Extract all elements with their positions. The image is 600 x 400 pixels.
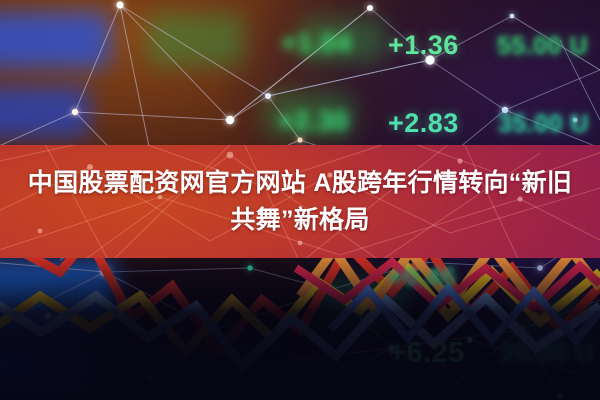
banner-image: +1.04+1.3655.00 U+2.30+2.8335.00 U-8.613… <box>0 0 600 400</box>
headline-text: 中国股票配资网官方网站 A股跨年行情转向“新旧 共舞”新格局 <box>0 145 600 258</box>
headline-line-2: 共舞”新格局 <box>230 202 369 239</box>
headline-line-1: 中国股票配资网官方网站 A股跨年行情转向“新旧 <box>28 165 572 202</box>
